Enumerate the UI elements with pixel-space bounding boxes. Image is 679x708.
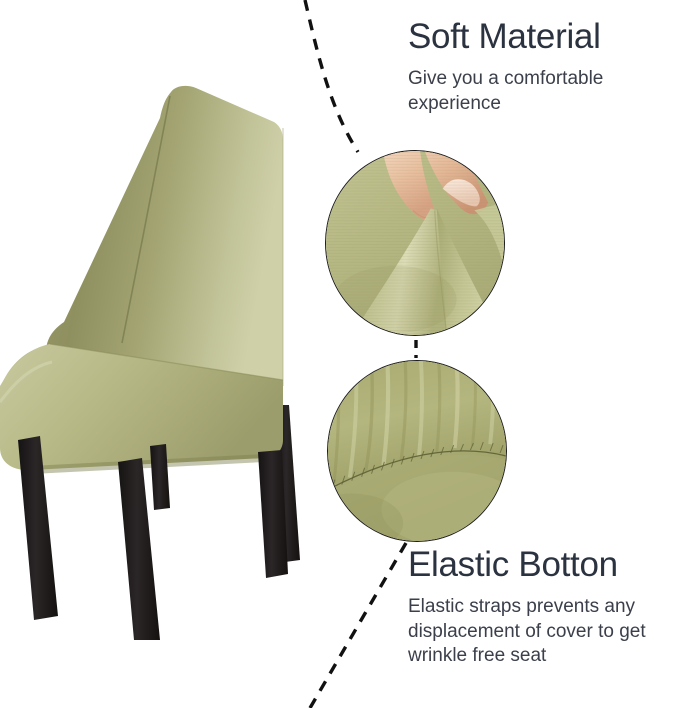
feature-text-soft-material: Soft Material Give you a comfortable exp… [408,18,670,116]
feature-subtext-elastic-bottom: Elastic straps prevents any displacement… [408,595,670,669]
feature-subtext-soft-material: Give you a comfortable experience [408,67,670,116]
feature-headline-soft-material: Soft Material [408,18,670,55]
infographic-page: Soft Material Give you a comfortable exp… [0,0,679,708]
detail-inset-soft-material [325,150,505,336]
detail-inset-elastic-bottom [327,360,507,542]
elastic-hem-photo [328,361,506,541]
product-photo [0,0,330,640]
feature-headline-elastic-bottom: Elastic Botton [408,546,670,583]
chair-illustration [0,0,330,640]
feature-text-elastic-bottom: Elastic Botton Elastic straps prevents a… [408,546,670,669]
fabric-pinch-photo [326,151,504,335]
fabric-shadow-left [334,266,457,333]
